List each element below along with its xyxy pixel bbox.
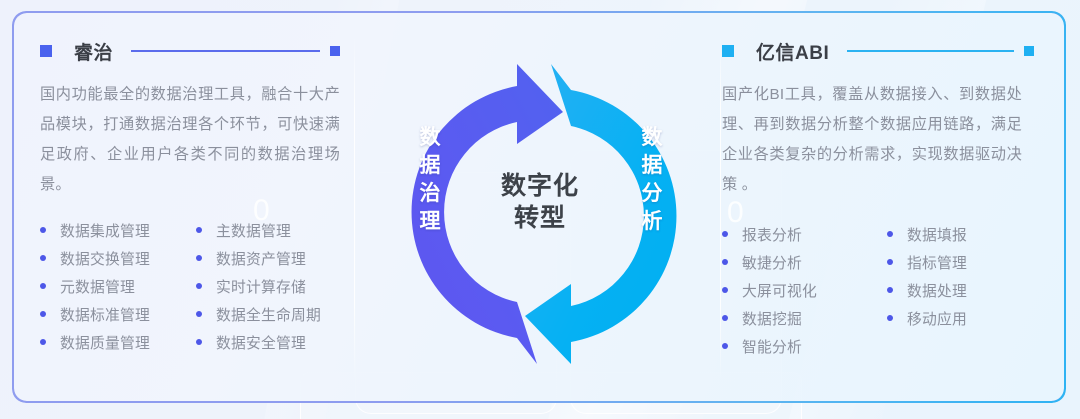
square-marker-small-icon bbox=[1024, 46, 1034, 56]
arc-label-char: 数 bbox=[413, 124, 447, 152]
bullet-dot-icon bbox=[40, 227, 46, 233]
list-item-label: 主数据管理 bbox=[216, 220, 291, 241]
bullet-dot-icon bbox=[196, 311, 202, 317]
list-item-label: 数据挖掘 bbox=[742, 308, 802, 329]
list-item[interactable]: 指标管理 bbox=[887, 248, 1034, 276]
list-item[interactable]: 主数据管理 bbox=[196, 216, 340, 244]
right-feature-list-col1: 报表分析 敏捷分析 大屏可视化 数据挖掘 智能分析 bbox=[722, 220, 869, 360]
right-column-description: 国产化BI工具，覆盖从数据接入、到数据处理、再到数据分析整个数据应用链路，满足企… bbox=[722, 80, 1022, 200]
bullet-dot-icon bbox=[196, 283, 202, 289]
list-item-label: 数据交换管理 bbox=[60, 248, 150, 269]
digital-transformation-cycle-diagram: 数据治理 数据分析 数字化 转型 bbox=[385, 52, 695, 372]
list-item[interactable]: 移动应用 bbox=[887, 304, 1034, 332]
bullet-dot-icon bbox=[196, 255, 202, 261]
bullet-dot-icon bbox=[40, 339, 46, 345]
left-product-column: 睿治 国内功能最全的数据治理工具，融合十大产品模块，打通数据治理各个环节，可快速… bbox=[40, 0, 340, 356]
bullet-dot-icon bbox=[887, 231, 893, 237]
list-item[interactable]: 实时计算存储 bbox=[196, 272, 340, 300]
list-item-label: 数据全生命周期 bbox=[216, 304, 321, 325]
cycle-center-text: 数字化 转型 bbox=[465, 170, 615, 234]
bullet-dot-icon bbox=[40, 283, 46, 289]
arc-label-char: 数 bbox=[635, 124, 669, 152]
arc-label-char: 据 bbox=[635, 152, 669, 180]
bullet-dot-icon bbox=[196, 227, 202, 233]
right-product-column: 亿信ABI 国产化BI工具，覆盖从数据接入、到数据处理、再到数据分析整个数据应用… bbox=[722, 0, 1034, 360]
bullet-dot-icon bbox=[887, 315, 893, 321]
right-arc-label: 数据分析 bbox=[635, 124, 669, 236]
right-feature-list: 报表分析 敏捷分析 大屏可视化 数据挖掘 智能分析 bbox=[722, 220, 1034, 360]
bullet-dot-icon bbox=[40, 311, 46, 317]
bullet-dot-icon bbox=[722, 315, 728, 321]
list-item-label: 元数据管理 bbox=[60, 276, 135, 297]
list-item[interactable]: 数据资产管理 bbox=[196, 244, 340, 272]
list-item-label: 数据标准管理 bbox=[60, 304, 150, 325]
list-item-label: 数据填报 bbox=[907, 224, 967, 245]
bullet-dot-icon bbox=[887, 287, 893, 293]
bullet-dot-icon bbox=[196, 339, 202, 345]
right-column-header: 亿信ABI bbox=[722, 38, 1034, 64]
list-item[interactable]: 数据全生命周期 bbox=[196, 300, 340, 328]
list-item-label: 移动应用 bbox=[907, 308, 967, 329]
square-marker-small-icon bbox=[330, 46, 340, 56]
list-item-label: 敏捷分析 bbox=[742, 252, 802, 273]
bullet-dot-icon bbox=[722, 231, 728, 237]
arc-label-char: 理 bbox=[413, 208, 447, 236]
infographic-stage: 睿治 国内功能最全的数据治理工具，融合十大产品模块，打通数据治理各个环节，可快速… bbox=[0, 0, 1080, 419]
list-item[interactable]: 大屏可视化 bbox=[722, 276, 869, 304]
list-item-label: 智能分析 bbox=[742, 336, 802, 357]
list-item-label: 实时计算存储 bbox=[216, 276, 306, 297]
left-feature-list: 数据集成管理 数据交换管理 元数据管理 数据标准管理 数据质量管理 bbox=[40, 216, 340, 356]
cycle-center-line1: 数字化 bbox=[465, 170, 615, 202]
bullet-dot-icon bbox=[40, 255, 46, 261]
left-feature-list-col2: 主数据管理 数据资产管理 实时计算存储 数据全生命周期 数据安全管理 bbox=[196, 216, 340, 356]
list-item-label: 数据集成管理 bbox=[60, 220, 150, 241]
arc-label-char: 析 bbox=[635, 208, 669, 236]
list-item[interactable]: 元数据管理 bbox=[40, 272, 184, 300]
square-marker-icon bbox=[40, 45, 52, 57]
list-item-label: 数据安全管理 bbox=[216, 332, 306, 353]
bullet-dot-icon bbox=[887, 259, 893, 265]
list-item-label: 指标管理 bbox=[907, 252, 967, 273]
list-item[interactable]: 数据处理 bbox=[887, 276, 1034, 304]
list-item[interactable]: 敏捷分析 bbox=[722, 248, 869, 276]
left-column-header: 睿治 bbox=[40, 38, 340, 64]
arc-label-char: 分 bbox=[635, 180, 669, 208]
column-divider bbox=[354, 35, 355, 381]
bullet-dot-icon bbox=[722, 343, 728, 349]
cycle-center-line2: 转型 bbox=[465, 202, 615, 234]
arc-label-char: 据 bbox=[413, 152, 447, 180]
left-arc-label: 数据治理 bbox=[413, 124, 447, 236]
list-item[interactable]: 报表分析 bbox=[722, 220, 869, 248]
arc-label-char: 治 bbox=[413, 180, 447, 208]
bullet-dot-icon bbox=[722, 287, 728, 293]
list-item[interactable]: 数据填报 bbox=[887, 220, 1034, 248]
square-marker-icon bbox=[722, 45, 734, 57]
list-item[interactable]: 数据交换管理 bbox=[40, 244, 184, 272]
header-rule bbox=[847, 50, 1014, 52]
right-feature-list-col2: 数据填报 指标管理 数据处理 移动应用 bbox=[887, 220, 1034, 360]
list-item-label: 数据处理 bbox=[907, 280, 967, 301]
list-item[interactable]: 数据标准管理 bbox=[40, 300, 184, 328]
list-item[interactable]: 数据挖掘 bbox=[722, 304, 869, 332]
list-item[interactable]: 数据安全管理 bbox=[196, 328, 340, 356]
list-item-label: 数据资产管理 bbox=[216, 248, 306, 269]
list-item[interactable]: 数据质量管理 bbox=[40, 328, 184, 356]
list-item-label: 大屏可视化 bbox=[742, 280, 817, 301]
left-feature-list-col1: 数据集成管理 数据交换管理 元数据管理 数据标准管理 数据质量管理 bbox=[40, 216, 184, 356]
list-item[interactable]: 智能分析 bbox=[722, 332, 869, 360]
list-item-label: 报表分析 bbox=[742, 224, 802, 245]
list-item-label: 数据质量管理 bbox=[60, 332, 150, 353]
bullet-dot-icon bbox=[722, 259, 728, 265]
header-rule bbox=[131, 50, 320, 52]
right-column-title: 亿信ABI bbox=[756, 38, 829, 65]
left-column-title: 睿治 bbox=[74, 38, 113, 65]
list-item[interactable]: 数据集成管理 bbox=[40, 216, 184, 244]
left-column-description: 国内功能最全的数据治理工具，融合十大产品模块，打通数据治理各个环节，可快速满足政… bbox=[40, 80, 340, 200]
column-divider bbox=[720, 35, 721, 381]
